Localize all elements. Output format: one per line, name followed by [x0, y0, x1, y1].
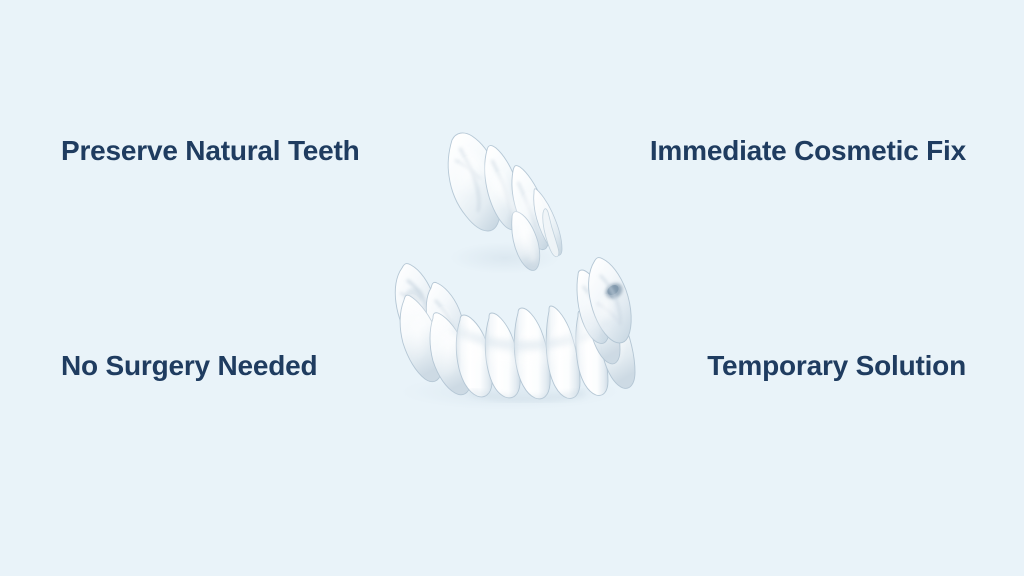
benefit-label-temporary-solution: Temporary Solution: [636, 343, 966, 389]
lower-dental-arch: [395, 258, 635, 410]
benefit-label-no-surgery-needed: No Surgery Needed: [61, 343, 361, 389]
dental-arch-illustration: [0, 0, 1024, 576]
slide-root: Preserve Natural Teeth Immediate Cosmeti…: [0, 0, 1024, 576]
benefit-label-immediate-cosmetic-fix: Immediate Cosmetic Fix: [636, 128, 966, 174]
benefit-label-preserve-natural-teeth: Preserve Natural Teeth: [61, 128, 361, 174]
upper-tooth-segment: [448, 133, 562, 274]
molar-opening: [603, 280, 626, 302]
